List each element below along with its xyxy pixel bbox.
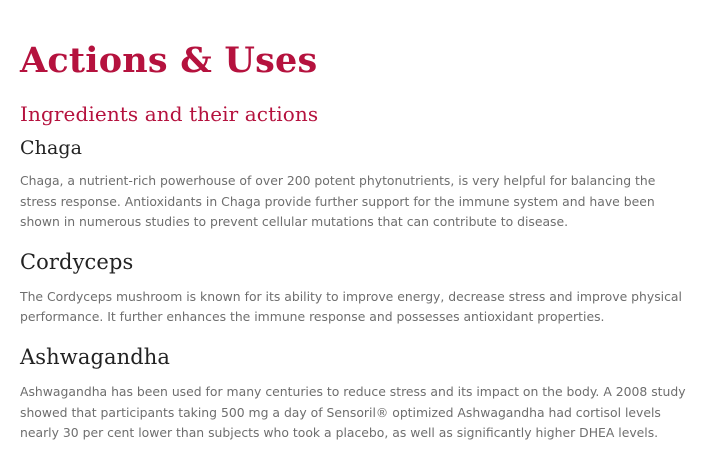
ingredient-section-chaga: Chaga Chaga, a nutrient-rich powerhouse … <box>20 126 686 233</box>
ingredient-heading-ashwagandha: Ashwagandha <box>20 328 686 370</box>
document-page: Actions & Uses Ingredients and their act… <box>0 0 706 471</box>
ingredient-heading-chaga: Chaga <box>20 126 686 160</box>
ingredient-description-chaga: Chaga, a nutrient-rich powerhouse of ove… <box>20 159 686 233</box>
ingredient-section-ashwagandha: Ashwagandha Ashwagandha has been used fo… <box>20 328 686 444</box>
page-title: Actions & Uses <box>20 0 686 81</box>
ingredient-description-cordyceps: The Cordyceps mushroom is known for its … <box>20 275 686 328</box>
ingredient-section-cordyceps: Cordyceps The Cordyceps mushroom is know… <box>20 233 686 328</box>
section-subtitle: Ingredients and their actions <box>20 81 686 126</box>
ingredient-description-ashwagandha: Ashwagandha has been used for many centu… <box>20 370 686 444</box>
ingredient-heading-cordyceps: Cordyceps <box>20 233 686 275</box>
